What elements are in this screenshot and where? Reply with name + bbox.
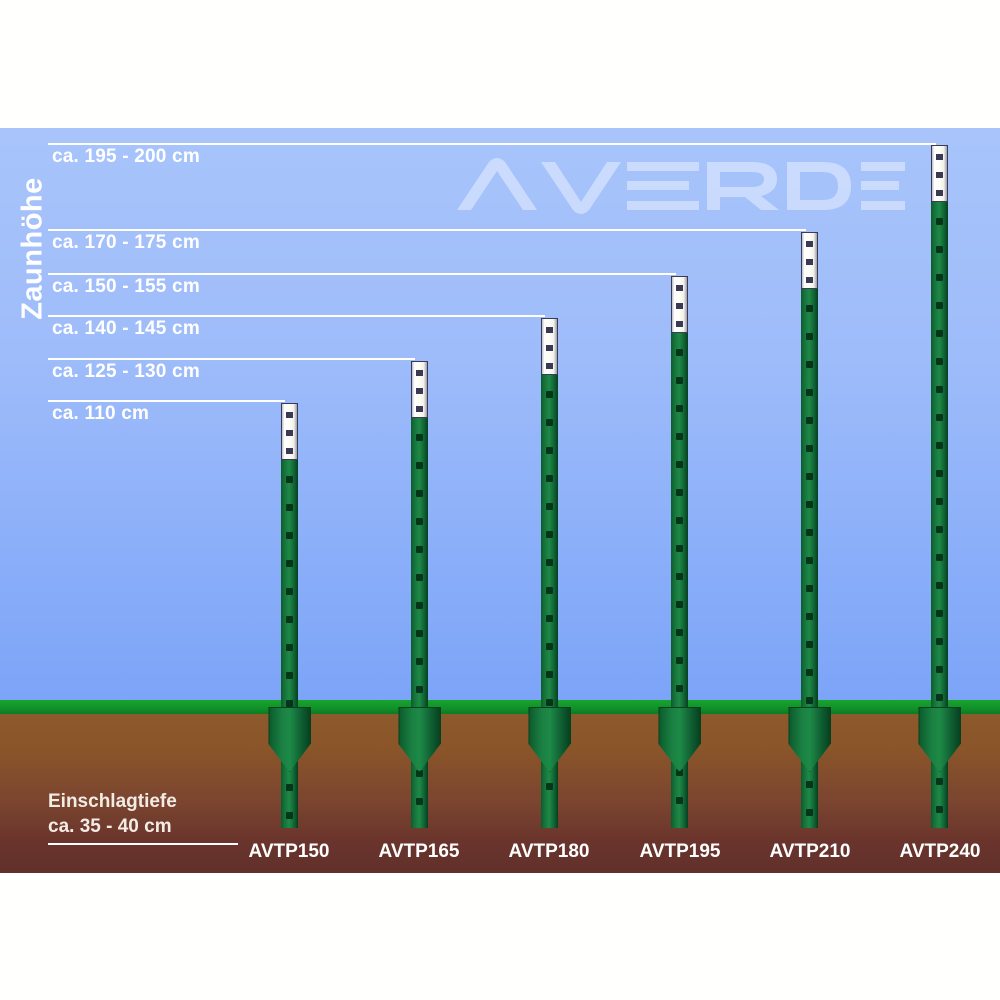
post-cap — [411, 361, 428, 418]
height-label-125-130: ca. 125 - 130 cm — [52, 361, 200, 383]
height-label-140-145: ca. 140 - 145 cm — [52, 318, 200, 340]
leader-line-195-200 — [48, 143, 936, 145]
leader-line-150-155 — [48, 273, 676, 275]
post-label-avtp240: AVTP240 — [900, 841, 981, 863]
post-avtp150[interactable] — [281, 403, 298, 828]
post-cap — [671, 276, 688, 333]
post-cap — [801, 232, 818, 289]
post-shaft — [281, 460, 298, 828]
averde-logo — [455, 152, 905, 222]
leader-line-125-130 — [48, 358, 415, 360]
post-cap — [931, 145, 948, 202]
height-label-195-200: ca. 195 - 200 cm — [52, 146, 200, 168]
leader-line-140-145 — [48, 315, 545, 317]
post-cap — [541, 318, 558, 375]
ground-line — [0, 700, 1000, 714]
post-label-avtp150: AVTP150 — [249, 841, 330, 863]
height-label-170-175: ca. 170 - 175 cm — [52, 232, 200, 254]
post-avtp180[interactable] — [541, 318, 558, 828]
depth-value: ca. 35 - 40 cm — [48, 816, 172, 837]
post-label-avtp210: AVTP210 — [770, 841, 851, 863]
depth-underline — [48, 843, 238, 845]
post-avtp165[interactable] — [411, 361, 428, 828]
leader-line-110 — [48, 400, 285, 402]
post-label-avtp180: AVTP180 — [509, 841, 590, 863]
leader-line-170-175 — [48, 229, 806, 231]
post-label-avtp165: AVTP165 — [379, 841, 460, 863]
post-avtp240[interactable] — [931, 145, 948, 828]
axis-label-zaunhoehe: Zaunhöhe — [17, 169, 50, 329]
depth-title: Einschlagtiefe — [48, 791, 177, 812]
post-label-avtp195: AVTP195 — [640, 841, 721, 863]
height-label-110: ca. 110 cm — [52, 403, 149, 425]
depth-annotation: Einschlagtiefe ca. 35 - 40 cm — [48, 789, 177, 839]
post-avtp195[interactable] — [671, 276, 688, 828]
diagram-canvas: Zaunhöhe ca. 195 - 200 cm ca. 170 - 175 … — [0, 0, 1000, 1000]
post-avtp210[interactable] — [801, 232, 818, 828]
height-label-150-155: ca. 150 - 155 cm — [52, 276, 200, 298]
post-cap — [281, 403, 298, 460]
